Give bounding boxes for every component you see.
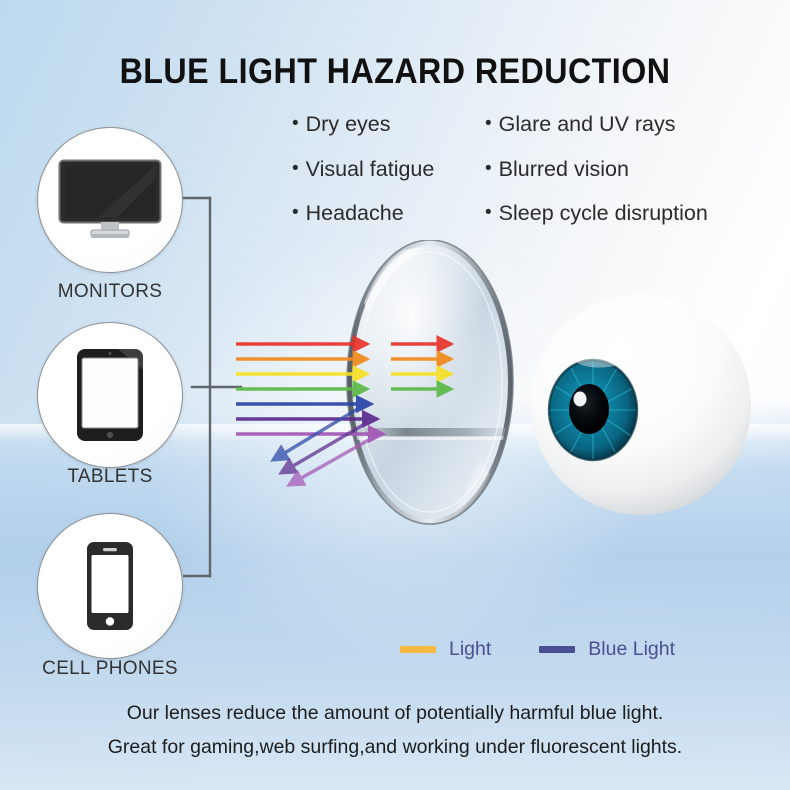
tablet-icon [76,348,144,442]
list-item: •Blurred vision [485,157,708,182]
infographic-canvas: BLUE LIGHT HAZARD REDUCTION •Dry eyes •V… [0,0,790,790]
bullet-dot: • [292,202,299,224]
list-item: •Sleep cycle disruption [485,201,708,226]
pupil [569,384,609,434]
legend-label-blue-light: Blue Light [588,638,675,661]
list-item: •Visual fatigue [292,157,434,182]
list-item: •Headache [292,201,434,226]
device-label-monitors: MONITORS [10,281,210,303]
device-circle-monitors [37,127,183,273]
bullet-dot: • [292,158,299,180]
light-ray-diagram [215,330,480,490]
list-item: •Dry eyes [292,112,434,137]
list-item-label: Visual fatigue [306,157,435,181]
device-label-tablets: TABLETS [10,466,210,488]
device-label-cell-phones: CELL PHONES [10,658,210,680]
human-eyeball [527,294,755,516]
bullet-dot: • [485,202,492,224]
footer-line-1: Our lenses reduce the amount of potentia… [0,702,790,725]
list-item-label: Blurred vision [499,157,629,181]
device-circle-tablets [37,322,183,468]
device-circle-cell-phones [37,513,183,659]
list-item: •Glare and UV rays [485,112,708,137]
legend: Light Blue Light [400,638,675,661]
footer-line-2: Great for gaming,web surfing,and working… [0,736,790,759]
list-item-label: Glare and UV rays [499,112,676,136]
pupil-highlight [574,392,587,407]
iris [549,360,637,460]
symptom-list-left: •Dry eyes •Visual fatigue •Headache [292,112,434,226]
list-item-label: Sleep cycle disruption [499,201,708,225]
bullet-dot: • [485,113,492,135]
smartphone-icon [86,541,134,631]
list-item-label: Dry eyes [306,112,391,136]
legend-label-light: Light [449,638,491,661]
symptom-list-right: •Glare and UV rays •Blurred vision •Slee… [485,112,708,226]
legend-swatch-blue-light [539,646,575,653]
list-item-label: Headache [306,201,404,225]
legend-swatch-light [400,646,436,653]
bullet-dot: • [292,113,299,135]
bullet-dot: • [485,158,492,180]
page-title: BLUE LIGHT HAZARD REDUCTION [32,52,759,92]
monitor-icon [58,159,162,241]
